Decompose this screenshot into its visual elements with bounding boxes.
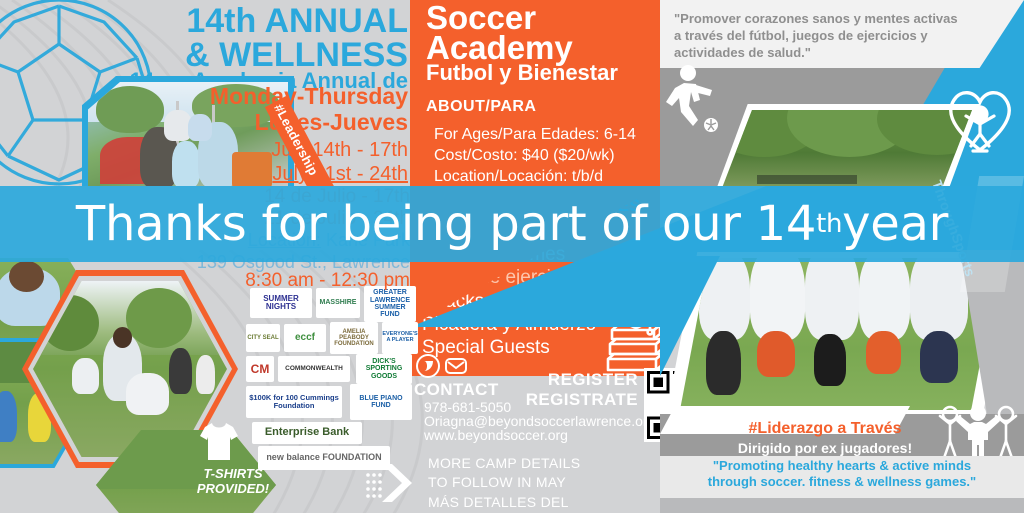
banner-text-after: year — [842, 196, 948, 252]
about-heading: ABOUT/PARA — [426, 98, 536, 116]
footer-quote-line-2: through soccer. fitness & wellness games… — [662, 474, 1022, 490]
tshirt-caption-line-2: PROVIDED! — [178, 481, 288, 496]
sponsor-logo: $100K for 100 Cummings Foundation — [246, 386, 342, 418]
about-line-location: Location/Locación: t/b/d — [434, 166, 636, 187]
sponsor-logo: new balance FOUNDATION — [258, 446, 390, 470]
sponsor-logo: EVERYONE'S A PLAYER — [382, 322, 418, 354]
headline-line-1: 14th ANNUAL — [120, 4, 408, 38]
envelope-icon — [444, 354, 468, 378]
quote-text-spanish: "Promover corazones sanos y mentes activ… — [674, 10, 964, 61]
sponsor-logo: MASSHIRE — [316, 288, 360, 318]
anniversary-banner-text: Thanks for being part of our 14th year — [0, 186, 1024, 262]
sponsor-logo: BLUE PIANO FUND — [350, 384, 412, 420]
sponsor-logo: AMELIA PEABODY FOUNDATION — [330, 322, 378, 354]
heart-with-person-icon — [944, 78, 1016, 156]
top-right-photo-trees — [722, 110, 972, 188]
footer-quote: "Promoting healthy hearts & active minds… — [662, 458, 1022, 491]
register-label-en: REGISTER — [470, 370, 638, 390]
sponsor-logo: Enterprise Bank — [252, 422, 362, 444]
about-lines: For Ages/Para Edades: 6-14 Cost/Costo: $… — [434, 124, 636, 187]
anniversary-banner: Thanks for being part of our 14th year — [0, 186, 1024, 262]
sponsor-logo: CM — [246, 356, 274, 382]
dirigido-caption: Dirigido por ex jugadores! — [690, 440, 960, 456]
sponsor-logo: DICK'S SPORTING GOODS — [356, 354, 412, 384]
poster-canvas: 14th ANNUAL & WELLNESS 14era Academia An… — [0, 0, 1024, 513]
sponsor-logos-panel: SUMMER NIGHTS MASSHIRE GREATER LAWRENCE … — [246, 288, 418, 468]
footer-bottom-strip — [660, 498, 1024, 513]
phone-icon — [416, 354, 440, 378]
sponsor-logo: SUMMER NIGHTS — [250, 288, 312, 318]
tshirt-icon — [196, 418, 242, 464]
right-photo-kids-huddle — [680, 258, 1000, 410]
banner-superscript: th — [816, 209, 842, 239]
about-line-cost: Cost/Costo: $40 ($20/wk) — [434, 145, 636, 166]
footer-quote-line-1: "Promoting healthy hearts & active minds — [662, 458, 1022, 474]
camp-time: 8:30 am - 12:30 pm — [150, 270, 410, 292]
sponsor-logo: COMMONWEALTH — [278, 356, 350, 382]
sponsor-logo: CITY SEAL — [246, 324, 280, 352]
headline-line-2: & WELLNESS — [120, 38, 408, 72]
register-label-es: REGISTRATE — [470, 390, 638, 410]
tshirt-caption: T-SHIRTS PROVIDED! — [178, 466, 288, 497]
people-group-icon — [936, 404, 1020, 460]
title-spanish: Futbol y Bienestar — [426, 62, 618, 84]
title-orange-column: Soccer Academy Futbol y Bienestar ABOUT/… — [410, 0, 660, 188]
running-person-icon — [660, 62, 724, 136]
sponsor-logo: eccf — [284, 324, 326, 352]
liderazgo-hashtag: #Liderazgo a Través — [700, 420, 950, 438]
banner-text-before: Thanks for being part of our 14 — [76, 196, 816, 252]
about-line-ages: For Ages/Para Edades: 6-14 — [434, 124, 636, 145]
